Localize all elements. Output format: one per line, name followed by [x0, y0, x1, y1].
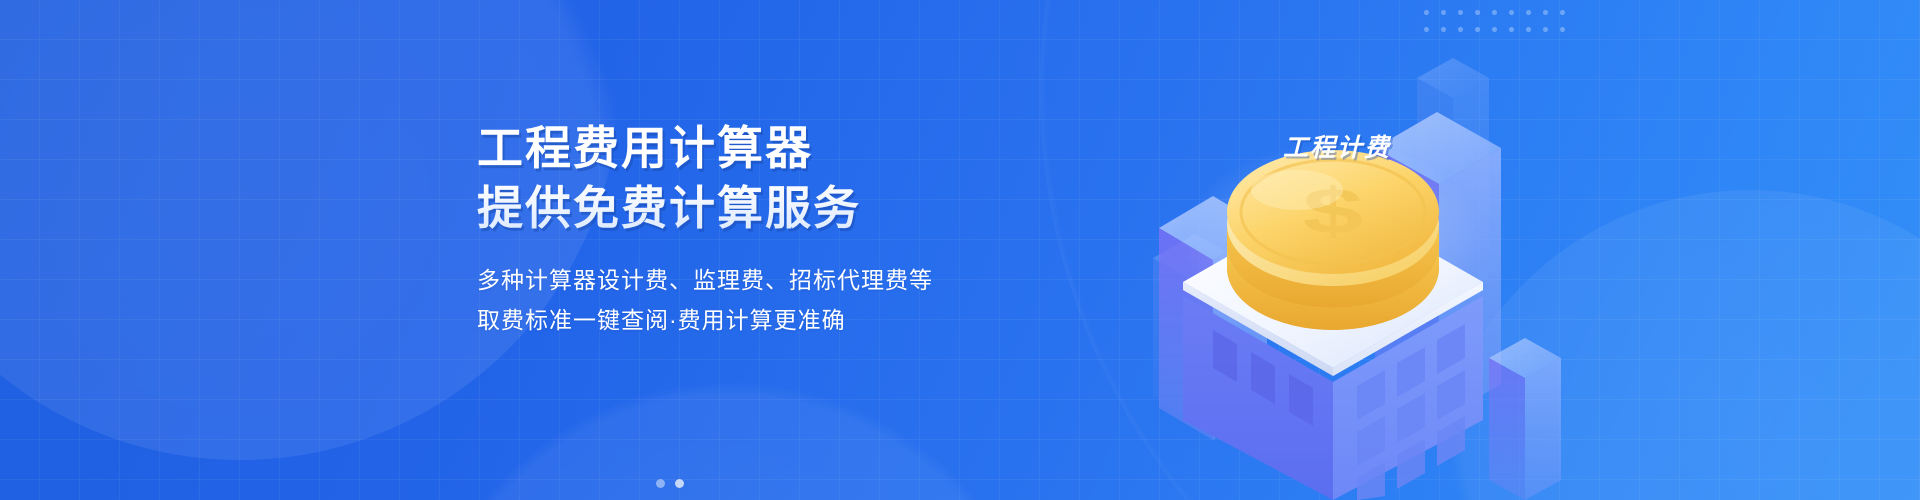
illustration-label: 工程计费 [1283, 128, 1391, 164]
carousel-dot-2[interactable] [675, 479, 684, 488]
subtitle-line-1: 多种计算器设计费、监理费、招标代理费等 [477, 267, 933, 293]
carousel-dot-1[interactable] [656, 479, 665, 488]
carousel-pagination [0, 479, 1920, 488]
headline-line-2: 提供免费计算服务 [477, 182, 861, 234]
hero-banner: $ 工程计费 工程费用计算器 提供免费计算服务 多种计算器设计费、监理费、招标代… [0, 0, 1920, 500]
subtitle-line-2: 取费标准一键查阅·费用计算更准确 [477, 307, 846, 333]
isometric-scene-svg: $ [1085, 0, 1645, 500]
page-title: 工程费用计算器 提供免费计算服务 [477, 118, 1117, 238]
background-tower-small-right [1489, 338, 1561, 500]
hero-copy: 工程费用计算器 提供免费计算服务 多种计算器设计费、监理费、招标代理费等 取费标… [477, 118, 1117, 340]
headline-line-1: 工程费用计算器 [477, 122, 813, 174]
hero-illustration: $ 工程计费 [1085, 0, 1645, 500]
hero-subtitle: 多种计算器设计费、监理费、招标代理费等 取费标准一键查阅·费用计算更准确 [477, 260, 1117, 340]
gold-coin: $ [1227, 150, 1439, 330]
